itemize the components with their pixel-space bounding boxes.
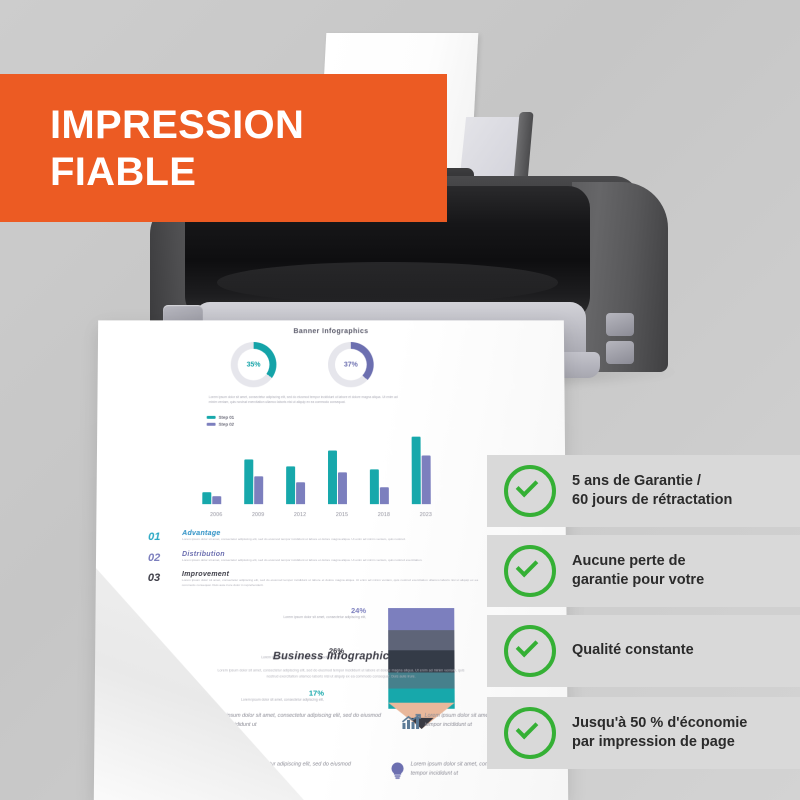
check-circle-icon xyxy=(504,545,556,597)
infographic-intro-paragraph: Lorem ipsum dolor sit amet, consectetur … xyxy=(209,395,398,405)
list-item: 03 Improvement Lorem ipsum dolor sit ame… xyxy=(148,571,478,587)
bar-group xyxy=(366,435,402,504)
legend-item-step-01: Step 01 xyxy=(207,415,234,420)
list-item: 02 Distribution Lorem ipsum dolor sit am… xyxy=(148,551,478,563)
list-item-number: 03 xyxy=(148,572,160,584)
donut-chart-2: 37% xyxy=(328,342,374,387)
page-title: IMPRESSIONFIABLE xyxy=(50,102,304,196)
list-item-heading: Advantage xyxy=(182,530,478,537)
bar-step-01 xyxy=(370,469,379,504)
bar-group xyxy=(282,435,318,504)
bar-chart: 200620092012201520182023 xyxy=(198,427,458,518)
feature-box-3-text: Qualité constante xyxy=(572,641,694,660)
check-circle-icon xyxy=(504,625,556,677)
legend-swatch-step-02 xyxy=(207,423,216,426)
list-item-heading: Improvement xyxy=(182,571,478,578)
feature-box-4-text: Jusqu'à 50 % d'économie par impression d… xyxy=(572,714,747,752)
bar-group xyxy=(408,435,444,504)
bar-step-02 xyxy=(254,476,263,504)
pyramid-text-1: Lorem ipsum dolor sit amet, consectetur … xyxy=(246,615,366,620)
bar-step-01 xyxy=(244,459,253,504)
pyramid-text-3: Lorem ipsum dolor sit amet, consectetur … xyxy=(203,698,324,703)
printer-control-button-1[interactable] xyxy=(606,313,634,336)
bar-step-02 xyxy=(338,472,347,504)
check-circle-icon xyxy=(504,465,556,517)
lightbulb-icon xyxy=(384,759,410,781)
bar-step-01 xyxy=(286,467,295,504)
pyramid-value-1: 24% xyxy=(246,606,366,615)
list-item-text: Lorem ipsum dolor sit amet, consectetur … xyxy=(182,537,478,542)
donut-chart-1: 35% xyxy=(231,342,277,387)
bar-axis-label: 2006 xyxy=(198,512,234,518)
bar-axis-label: 2009 xyxy=(240,512,276,518)
feature-box-2-text: Aucune perte de garantie pour votre xyxy=(572,552,704,590)
bar-step-02 xyxy=(422,455,431,504)
infographic-title: Banner Infographics xyxy=(98,328,564,335)
pyramid-label-1: 24% Lorem ipsum dolor sit amet, consecte… xyxy=(246,606,366,620)
feature-box-1-text: 5 ans de Garantie / 60 jours de rétracta… xyxy=(572,472,732,510)
bar-axis-label: 2015 xyxy=(324,512,360,518)
feature-box-1[interactable]: 5 ans de Garantie / 60 jours de rétracta… xyxy=(487,455,800,527)
bar-step-02 xyxy=(212,496,221,504)
list-item-number: 02 xyxy=(148,552,160,564)
bar-step-02 xyxy=(296,482,305,504)
bar-step-01 xyxy=(328,450,337,504)
bar-group xyxy=(324,435,360,504)
pyramid-label-3: 17% Lorem ipsum dolor sit amet, consecte… xyxy=(203,689,324,703)
feature-box-3[interactable]: Qualité constante xyxy=(487,615,800,687)
legend-swatch-step-01 xyxy=(207,416,216,419)
feature-box-2[interactable]: Aucune perte de garantie pour votre xyxy=(487,535,800,607)
bar-axis-label: 2023 xyxy=(408,512,444,518)
business-infographic-paragraph: Lorem ipsum dolor sit amet, consectetur … xyxy=(215,668,466,680)
bar-group xyxy=(198,435,234,504)
numbered-list: 01 Advantage Lorem ipsum dolor sit amet,… xyxy=(148,530,478,597)
poster-canvas: Banner Infographics 35% 37% Lorem ipsum … xyxy=(0,0,800,800)
bar-axis-label: 2012 xyxy=(282,512,318,518)
headline-banner: IMPRESSIONFIABLE xyxy=(0,74,447,222)
pyramid-segment-1 xyxy=(388,608,454,630)
list-item-text: Lorem ipsum dolor sit amet, consectetur … xyxy=(182,558,478,563)
bar-axis-label: 2018 xyxy=(366,512,402,518)
bar-group xyxy=(240,435,276,504)
growth-chart-icon xyxy=(398,711,424,733)
list-item: 01 Advantage Lorem ipsum dolor sit amet,… xyxy=(148,530,478,542)
list-item-number: 01 xyxy=(148,531,160,543)
list-item-heading: Distribution xyxy=(182,551,478,558)
headline-line-1: IMPRESSION xyxy=(50,103,304,147)
feature-box-4[interactable]: Jusqu'à 50 % d'économie par impression d… xyxy=(487,697,800,769)
bar-step-01 xyxy=(412,436,421,504)
list-item-text: Lorem ipsum dolor sit amet, consectetur … xyxy=(182,578,478,587)
pyramid-segment-2 xyxy=(388,630,454,650)
bar-step-02 xyxy=(380,487,389,504)
donut-chart-1-value: 35% xyxy=(238,349,270,380)
legend-label-step-01: Step 01 xyxy=(219,415,235,420)
headline-line-2: FIABLE xyxy=(50,150,196,194)
check-circle-icon xyxy=(504,707,556,759)
pyramid-value-3: 17% xyxy=(203,689,324,698)
printer-control-button-2[interactable] xyxy=(606,341,634,364)
donut-chart-2-value: 37% xyxy=(335,349,367,380)
bar-step-01 xyxy=(202,492,211,504)
